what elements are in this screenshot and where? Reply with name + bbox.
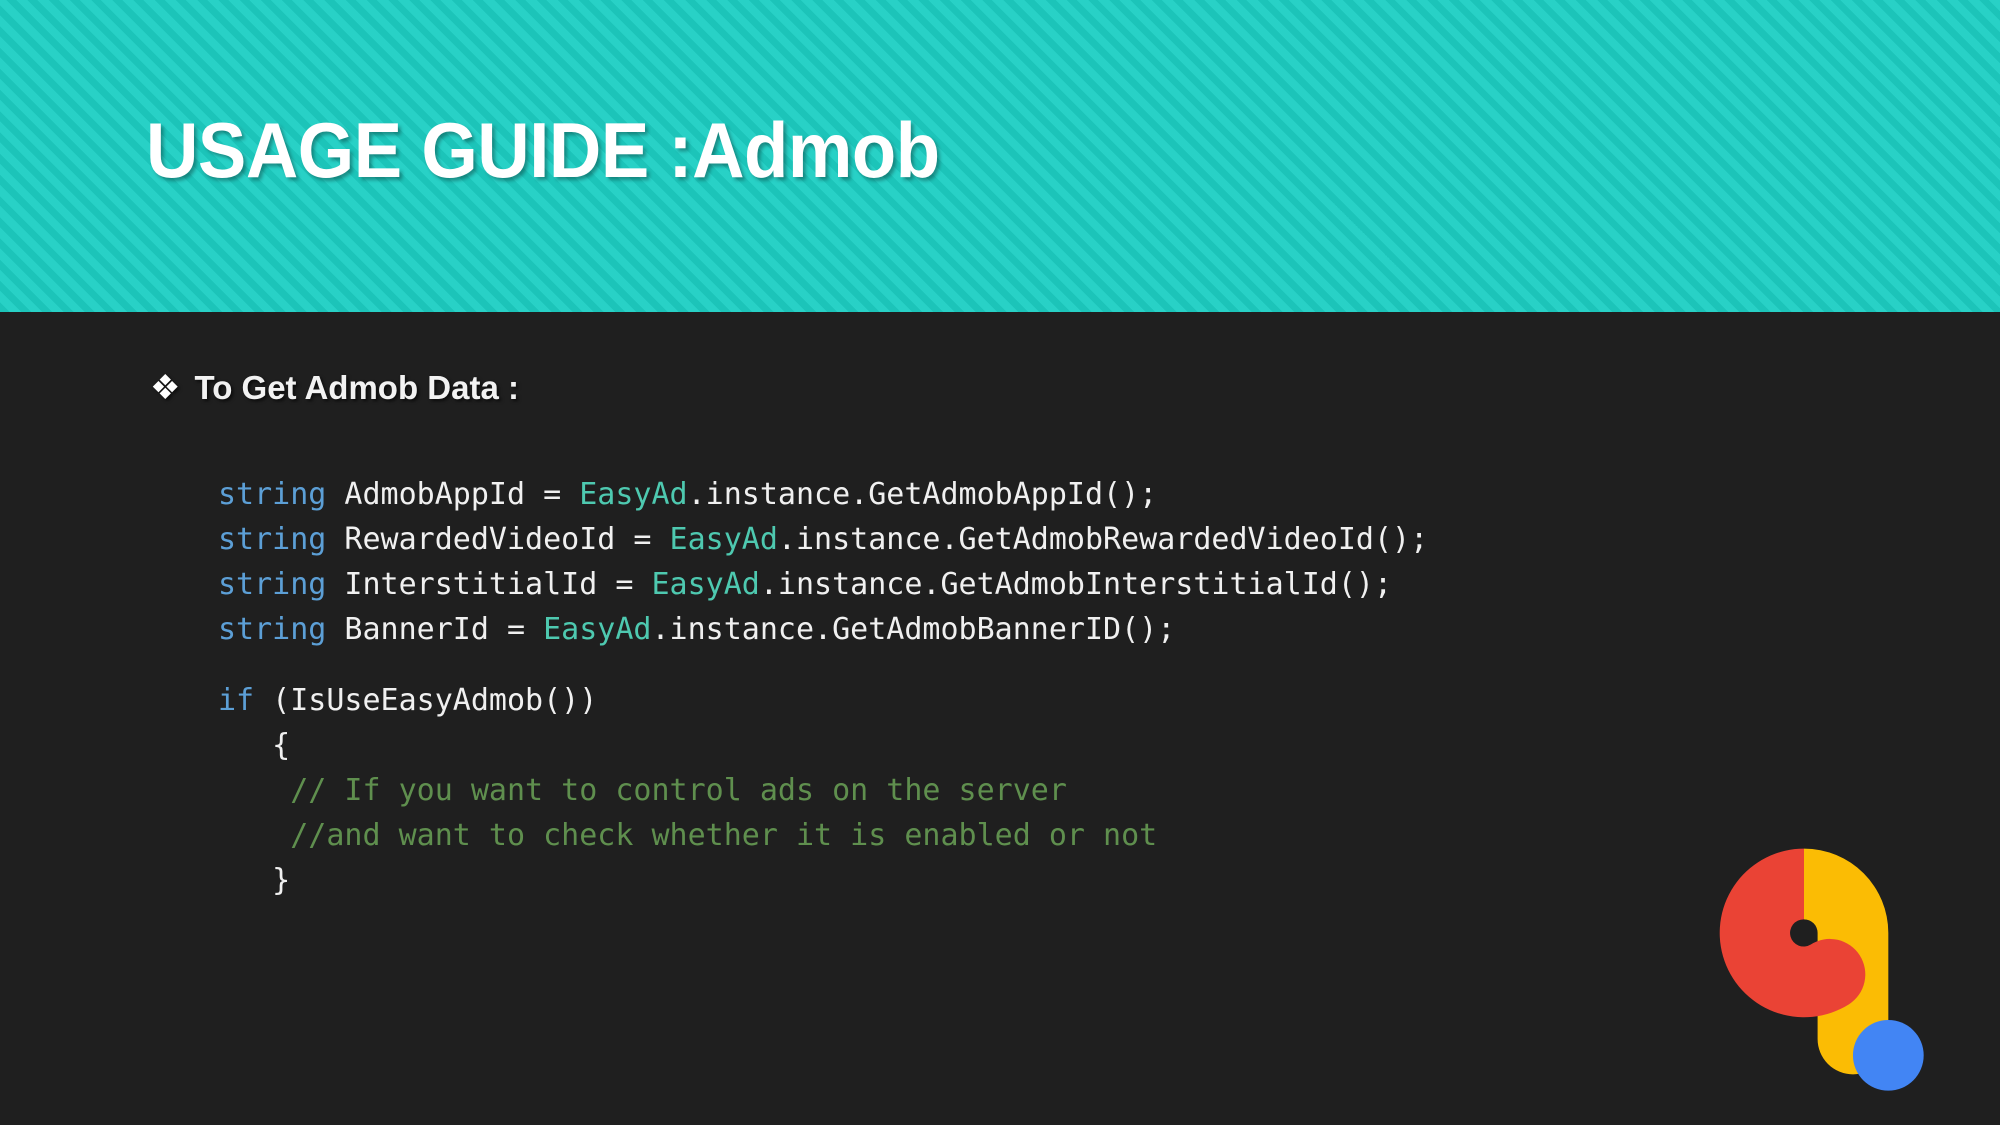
code-token: BannerId = [326,612,543,647]
code-token: string [218,522,326,557]
diamond-cluster-bullet-icon: ❖ [150,371,180,405]
code-line: string RewardedVideoId = EasyAd.instance… [218,517,1428,562]
code-block: string AdmobAppId = EasyAd.instance.GetA… [218,472,1428,903]
bullet-row: ❖ To Get Admob Data : [150,369,519,407]
slide-canvas: USAGE GUIDE :Admob ❖ To Get Admob Data :… [0,0,2000,1125]
code-token: string [218,567,326,602]
code-token: RewardedVideoId = [326,522,669,557]
code-token: AdmobAppId = [326,477,579,512]
code-token: EasyAd [543,612,651,647]
code-line: if (IsUseEasyAdmob()) [218,678,1428,723]
code-line: string InterstitialId = EasyAd.instance.… [218,562,1428,607]
code-line: //and want to check whether it is enable… [218,813,1428,858]
code-token: InterstitialId = [326,567,651,602]
code-line: string AdmobAppId = EasyAd.instance.GetA… [218,472,1428,517]
code-token: if [218,683,254,718]
bullet-label: To Get Admob Data : [194,369,519,407]
code-blank-line [218,652,1428,678]
code-token: .instance.GetAdmobInterstitialId(); [760,567,1392,602]
slide-body: ❖ To Get Admob Data : string AdmobAppId … [0,312,2000,1125]
code-token: string [218,612,326,647]
code-token: EasyAd [579,477,687,512]
code-token: EasyAd [651,567,759,602]
code-token: .instance.GetAdmobRewardedVideoId(); [778,522,1428,557]
code-token: (IsUseEasyAdmob()) [254,683,597,718]
admob-logo-icon [1668,835,1940,1107]
code-token: .instance.GetAdmobBannerID(); [652,612,1176,647]
code-token: { [218,728,290,763]
code-token: //and want to check whether it is enable… [218,818,1157,853]
code-token: // If you want to control ads on the ser… [218,773,1067,808]
code-line: // If you want to control ads on the ser… [218,768,1428,813]
code-line: string BannerId = EasyAd.instance.GetAdm… [218,607,1428,652]
code-line: } [218,858,1428,903]
code-token: } [218,863,290,898]
code-token: EasyAd [670,522,778,557]
code-token: .instance.GetAdmobAppId(); [688,477,1158,512]
code-token: string [218,477,326,512]
code-line: { [218,723,1428,768]
page-title: USAGE GUIDE :Admob [146,105,940,196]
